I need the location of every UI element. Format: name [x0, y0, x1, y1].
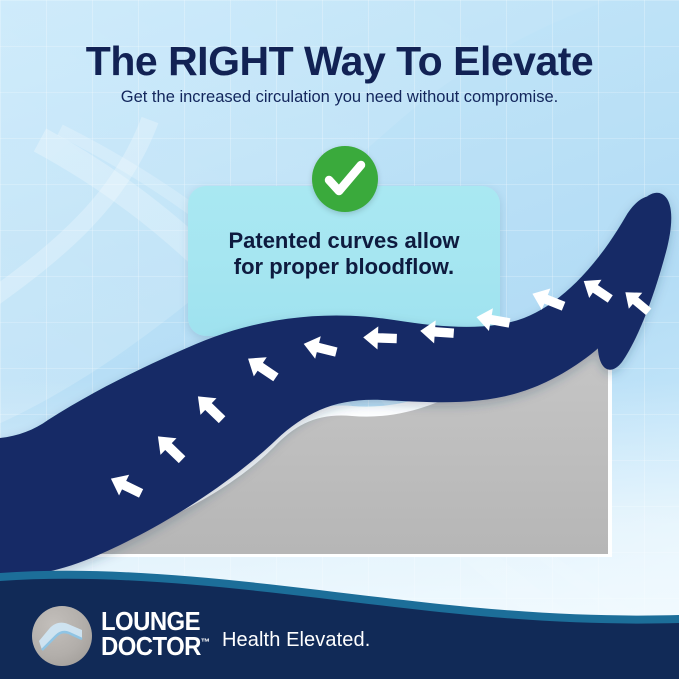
brand-line-2: DOCTOR™	[101, 634, 210, 659]
trademark-symbol: ™	[201, 637, 210, 648]
brand-tagline: Health Elevated.	[222, 629, 370, 652]
brand-wordmark: LOUNGE DOCTOR™	[101, 609, 210, 659]
lounge-doctor-leg-logo-icon	[32, 606, 92, 666]
promo-image: The RIGHT Way To Elevate Get the increas…	[0, 0, 679, 679]
callout-line-1: Patented curves allow	[188, 228, 500, 254]
check-icon	[312, 146, 378, 212]
callout-line-2: for proper bloodflow.	[188, 254, 500, 280]
callout-message: Patented curves allow for proper bloodfl…	[188, 228, 500, 279]
